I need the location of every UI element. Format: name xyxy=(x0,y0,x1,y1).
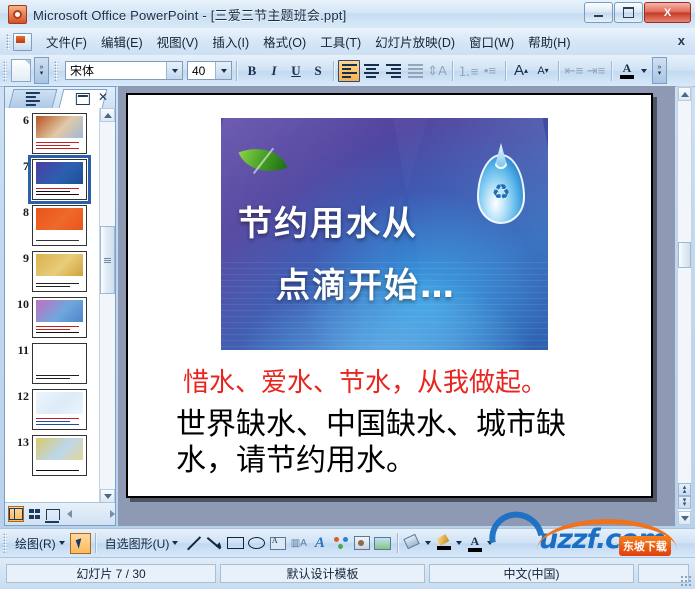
slide-show-icon[interactable] xyxy=(45,506,61,522)
decrease-font-size-icon[interactable]: A▾ xyxy=(532,60,554,82)
oval-icon[interactable] xyxy=(246,533,267,554)
thumbnail-list[interactable]: 678910111213 xyxy=(5,108,100,503)
next-slide-icon[interactable]: ▾▾ xyxy=(678,496,691,509)
menu-item-file[interactable]: 文件(F) xyxy=(39,29,94,54)
toolbar-separator xyxy=(611,61,612,81)
thumbnail-number: 11 xyxy=(7,343,32,358)
thumbnail-image xyxy=(36,254,83,276)
thumbnail-row[interactable]: 9 xyxy=(5,246,100,292)
toolbar-separator xyxy=(397,533,398,553)
thumbnail-text-lines xyxy=(36,418,83,426)
font-color-dropdown-icon[interactable] xyxy=(485,533,495,554)
thumbnail-image xyxy=(36,208,83,230)
slide-image[interactable]: ♻ 节约用水从 点滴开始… xyxy=(221,118,548,350)
menu-item-slideshow[interactable]: 幻灯片放映(D) xyxy=(368,29,462,54)
thumbnail-text-lines xyxy=(36,142,83,150)
thumbnail-number: 6 xyxy=(7,113,32,128)
slide-thumbnail[interactable] xyxy=(32,251,87,292)
tab-outline-view[interactable] xyxy=(9,89,58,108)
menu-item-view[interactable]: 视图(V) xyxy=(150,29,206,54)
minimize-button[interactable] xyxy=(584,2,613,23)
outline-view-icon xyxy=(26,92,40,106)
menu-item-insert[interactable]: 插入(I) xyxy=(205,29,256,54)
format-toolbar-options-icon[interactable]: »▾ xyxy=(652,57,667,84)
title-bar: Microsoft Office PowerPoint - [三爱三节主题班会.… xyxy=(0,0,695,29)
bold-button[interactable]: B xyxy=(241,60,263,82)
autoshapes-label: 自选图形(U) xyxy=(105,535,170,552)
slide-thumbnail[interactable] xyxy=(32,205,87,246)
scroll-left-arrow[interactable] xyxy=(67,510,72,518)
thumbnail-number: 9 xyxy=(7,251,32,266)
draw-menu-button[interactable]: 绘图(R) xyxy=(10,532,70,554)
draw-menu-label: 绘图(R) xyxy=(15,535,56,552)
thumbnail-image xyxy=(36,300,83,322)
chevron-down-icon xyxy=(59,541,65,545)
resize-grip-icon[interactable] xyxy=(680,575,692,587)
thumbnail-text-lines xyxy=(36,240,83,242)
slide-text-black[interactable]: 世界缺水、中国缺水、城市缺水，请节约用水。 xyxy=(176,407,625,479)
slide-thumbnail[interactable] xyxy=(32,113,87,154)
view-buttons-bar xyxy=(5,502,115,525)
thumbnail-image xyxy=(36,438,83,460)
chevron-down-icon xyxy=(172,541,178,545)
autoshapes-menu-button[interactable]: 自选图形(U) xyxy=(100,532,184,554)
thumbnail-image xyxy=(36,162,83,184)
clip-art-icon[interactable] xyxy=(351,533,372,554)
maximize-button[interactable] xyxy=(614,2,643,23)
line-icon[interactable] xyxy=(183,533,204,554)
font-size-combobox[interactable]: 40 xyxy=(187,61,232,80)
menu-item-help[interactable]: 帮助(H) xyxy=(521,29,577,54)
align-center-icon[interactable] xyxy=(360,60,382,82)
fill-color-dropdown-icon[interactable] xyxy=(423,533,433,554)
scroll-right-arrow[interactable] xyxy=(110,510,115,518)
fill-color-icon[interactable] xyxy=(402,533,423,554)
scroll-up-arrow[interactable] xyxy=(100,108,115,122)
scroll-up-arrow[interactable] xyxy=(678,87,691,101)
powerpoint-icon xyxy=(8,5,27,24)
thumbnail-row[interactable]: 11 xyxy=(5,338,100,384)
thumbnail-number: 12 xyxy=(7,389,32,404)
italic-button[interactable]: I xyxy=(263,60,285,82)
align-justify-icon[interactable] xyxy=(404,60,426,82)
font-color-dropdown-icon[interactable] xyxy=(638,60,650,82)
thumbnail-image xyxy=(36,116,83,138)
thumbnail-text-lines xyxy=(36,375,83,380)
increase-font-size-icon[interactable]: A▴ xyxy=(510,60,532,82)
toolbar-separator xyxy=(558,61,559,81)
underline-button[interactable]: U xyxy=(285,60,307,82)
status-bar: 幻灯片 7 / 30 默认设计模板 中文(中国) xyxy=(0,558,695,589)
close-document-button[interactable]: x xyxy=(678,33,685,48)
slide-scrollbar[interactable]: ▴▴ ▾▾ xyxy=(677,86,692,526)
menu-item-tools[interactable]: 工具(T) xyxy=(313,29,368,54)
numbered-list-icon[interactable]: ⒈≡ xyxy=(457,60,479,82)
font-color-icon[interactable]: A xyxy=(464,533,485,554)
menu-item-format[interactable]: 格式(O) xyxy=(256,29,313,54)
thumbnail-row[interactable]: 10 xyxy=(5,292,100,338)
menu-item-window[interactable]: 窗口(W) xyxy=(462,29,521,54)
slide-thumbnail[interactable] xyxy=(32,389,87,430)
font-color-icon[interactable]: A xyxy=(616,60,638,82)
diagram-icon[interactable] xyxy=(330,533,351,554)
toolbar-options-icon[interactable]: »▾ xyxy=(34,57,49,84)
thumbnail-image xyxy=(36,346,83,368)
thumbnail-number: 10 xyxy=(7,297,32,312)
align-left-icon[interactable] xyxy=(338,60,360,82)
slide-thumbnail[interactable] xyxy=(32,343,87,384)
new-document-icon[interactable] xyxy=(11,59,31,82)
line-spacing-icon[interactable]: ⇕A xyxy=(426,60,448,82)
wordart-icon[interactable]: A xyxy=(309,533,330,554)
decrease-indent-icon[interactable]: ⇤≡ xyxy=(563,60,585,82)
toolbar-separator xyxy=(95,533,96,553)
image-headline-line1: 节约用水从 xyxy=(238,196,548,245)
slide-text-red[interactable]: 惜水、爱水、节水，从我做起。 xyxy=(183,369,637,399)
image-headline-line2: 点滴开始… xyxy=(276,258,548,307)
window-title: Microsoft Office PowerPoint - [三爱三节主题班会.… xyxy=(33,5,346,24)
design-template-status[interactable]: 默认设计模板 xyxy=(220,564,425,583)
text-shadow-button[interactable]: S xyxy=(307,60,329,82)
slide-workspace: ♻ 节约用水从 点滴开始… 惜水、爱水、节水，从我做起。 世界缺水、中国缺水、城… xyxy=(118,86,675,526)
font-size-value: 40 xyxy=(188,64,215,78)
normal-view-icon[interactable] xyxy=(8,506,24,522)
thumbnail-text-lines xyxy=(36,470,83,472)
panel-scrollbar-thumb[interactable] xyxy=(100,226,115,294)
thumbnail-row[interactable]: 12 xyxy=(5,384,100,430)
slide-nav-buttons: ▴▴ ▾▾ xyxy=(678,483,691,509)
arrow-icon[interactable] xyxy=(204,533,225,554)
language-status[interactable]: 中文(中国) xyxy=(429,564,634,583)
slide-thumbnail[interactable] xyxy=(32,435,87,476)
align-right-icon[interactable] xyxy=(382,60,404,82)
thumbnail-text-lines xyxy=(36,188,83,196)
thumbnail-number: 13 xyxy=(7,435,32,450)
rectangle-icon[interactable] xyxy=(225,533,246,554)
toolbar-separator xyxy=(236,61,237,81)
close-panel-button[interactable]: ✕ xyxy=(98,90,108,104)
panel-scrollbar[interactable] xyxy=(99,108,115,503)
select-arrow-icon[interactable] xyxy=(70,533,91,554)
thumbnail-text-lines xyxy=(36,326,83,334)
increase-indent-icon[interactable]: ⇥≡ xyxy=(585,60,607,82)
toolbar-drag-handle[interactable] xyxy=(3,61,7,81)
thumbnail-number: 7 xyxy=(7,159,32,174)
slides-panel: ✕ 678910111213 xyxy=(4,86,116,526)
scroll-down-arrow[interactable] xyxy=(678,511,691,525)
font-name-dropdown-icon[interactable] xyxy=(166,62,182,79)
text-box-icon[interactable] xyxy=(267,533,288,554)
slide-counter: 幻灯片 7 / 30 xyxy=(6,564,216,583)
insert-picture-icon[interactable] xyxy=(372,533,393,554)
draw-font-color-letter: A xyxy=(471,535,480,547)
thumbnail-image xyxy=(36,392,83,414)
line-color-icon[interactable] xyxy=(433,533,454,554)
close-button[interactable]: X xyxy=(644,2,691,23)
format-toolbar-drag-handle[interactable] xyxy=(54,61,58,81)
current-slide[interactable]: ♻ 节约用水从 点滴开始… 惜水、爱水、节水，从我做起。 世界缺水、中国缺水、城… xyxy=(126,93,653,498)
drawing-toolbar-drag-handle[interactable] xyxy=(3,533,7,553)
bullet-list-icon[interactable]: •≡ xyxy=(479,60,501,82)
slide-scrollbar-thumb[interactable] xyxy=(678,242,691,268)
toolbar-separator xyxy=(333,61,334,81)
main-area: ✕ 678910111213 xyxy=(0,86,695,526)
thumbnail-row[interactable]: 7 xyxy=(5,154,100,200)
scroll-down-arrow[interactable] xyxy=(100,489,115,503)
previous-slide-icon[interactable]: ▴▴ xyxy=(678,483,691,496)
slides-view-icon xyxy=(76,93,90,105)
slide-thumbnail[interactable] xyxy=(32,297,87,338)
font-name-combobox[interactable]: 宋体 xyxy=(65,61,183,80)
formatting-toolbar: »▾ 宋体 40 B I U S ⇕A ⒈≡ •≡ xyxy=(0,55,695,87)
menu-drag-handle[interactable] xyxy=(6,34,10,50)
powerpoint-window: Microsoft Office PowerPoint - [三爱三节主题班会.… xyxy=(0,0,695,589)
panel-horizontal-scrollbar[interactable] xyxy=(67,510,115,518)
menu-item-edit[interactable]: 编辑(E) xyxy=(94,29,150,54)
line-color-dropdown-icon[interactable] xyxy=(454,533,464,554)
thumbnail-text-lines xyxy=(36,283,83,288)
slide-thumbnail[interactable] xyxy=(32,159,87,200)
thumbnail-row[interactable]: 6 xyxy=(5,108,100,154)
document-icon xyxy=(13,33,32,51)
vertical-text-box-icon[interactable]: ▥A xyxy=(288,533,309,554)
thumbnail-number: 8 xyxy=(7,205,32,220)
thumbnail-row[interactable]: 8 xyxy=(5,200,100,246)
slide-sorter-icon[interactable] xyxy=(27,506,42,522)
font-size-dropdown-icon[interactable] xyxy=(215,62,231,79)
toolbar-separator xyxy=(505,61,506,81)
panel-tabs: ✕ xyxy=(5,87,115,109)
drawing-toolbar: 绘图(R) 自选图形(U) ▥A A A xyxy=(0,528,695,558)
thumbnail-row[interactable]: 13 xyxy=(5,430,100,476)
window-controls: X xyxy=(584,2,691,23)
toolbar-separator xyxy=(452,61,453,81)
menu-bar: 文件(F) 编辑(E) 视图(V) 插入(I) 格式(O) 工具(T) 幻灯片放… xyxy=(0,28,695,56)
font-color-letter: A xyxy=(623,62,632,74)
font-name-value: 宋体 xyxy=(66,62,166,79)
